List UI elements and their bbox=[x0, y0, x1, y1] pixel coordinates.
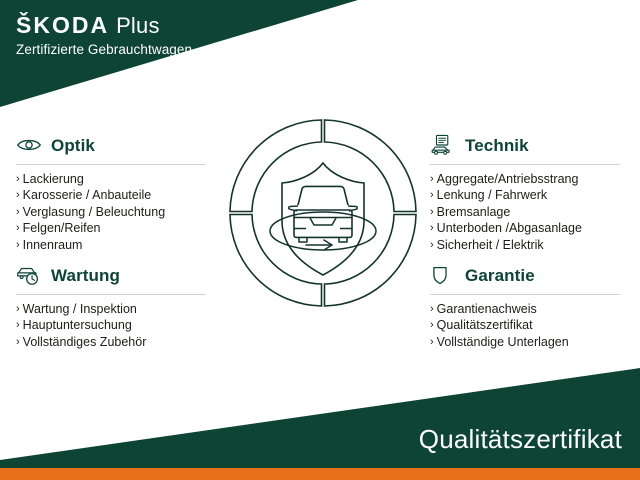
section-technik-header: Technik bbox=[430, 131, 630, 159]
list-item-label: Hauptuntersuchung bbox=[23, 317, 132, 333]
footer-title: Qualitätszertifikat bbox=[419, 426, 622, 452]
chevron-icon: › bbox=[430, 220, 434, 236]
skoda-plus-logo: ŠKODA Plus Zertifizierte Gebrauchtwagen bbox=[16, 14, 192, 57]
chevron-icon: › bbox=[430, 334, 434, 350]
skoda-wordmark: ŠKODA bbox=[16, 14, 109, 37]
chevron-icon: › bbox=[16, 220, 20, 236]
list-item-label: Felgen/Reifen bbox=[23, 220, 101, 236]
chevron-icon: › bbox=[16, 187, 20, 203]
chevron-icon: › bbox=[430, 187, 434, 203]
list-item-label: Karosserie / Anbauteile bbox=[23, 187, 152, 203]
section-optik-list: ›Lackierung ›Karosserie / Anbauteile ›Ve… bbox=[16, 171, 216, 253]
list-item: ›Unterboden /Abgasanlage bbox=[430, 220, 630, 236]
list-item-label: Aggregate/Antriebsstrang bbox=[437, 171, 579, 187]
section-technik-rule bbox=[430, 164, 620, 165]
section-technik-list: ›Aggregate/Antriebsstrang ›Lenkung / Fah… bbox=[430, 171, 630, 253]
section-garantie: Garantie ›Garantienachweis ›Qualitätszer… bbox=[430, 261, 630, 350]
chevron-icon: › bbox=[16, 204, 20, 220]
ring-segment-bottom-left bbox=[230, 215, 322, 307]
chevron-icon: › bbox=[430, 171, 434, 187]
certificate-infographic: ŠKODA Plus Zertifizierte Gebrauchtwagen … bbox=[0, 0, 640, 480]
chevron-icon: › bbox=[16, 237, 20, 253]
list-item-label: Unterboden /Abgasanlage bbox=[437, 220, 582, 236]
section-optik-rule bbox=[16, 164, 206, 165]
list-item: ›Qualitätszertifikat bbox=[430, 317, 630, 333]
list-item: ›Verglasung / Beleuchtung bbox=[16, 204, 216, 220]
section-garantie-header: Garantie bbox=[430, 261, 630, 289]
chevron-icon: › bbox=[430, 317, 434, 333]
footer-orange-strip bbox=[0, 468, 640, 480]
list-item-label: Verglasung / Beleuchtung bbox=[23, 204, 165, 220]
section-optik-header: Optik bbox=[16, 131, 216, 159]
shield-icon bbox=[430, 263, 456, 287]
chevron-icon: › bbox=[16, 334, 20, 350]
list-item: ›Aggregate/Antriebsstrang bbox=[430, 171, 630, 187]
list-item: ›Vollständiges Zubehör bbox=[16, 334, 216, 350]
list-item: ›Hauptuntersuchung bbox=[16, 317, 216, 333]
list-item-label: Bremsanlage bbox=[437, 204, 511, 220]
list-item: ›Felgen/Reifen bbox=[16, 220, 216, 236]
list-item: ›Sicherheit / Elektrik bbox=[430, 237, 630, 253]
section-garantie-rule bbox=[430, 294, 620, 295]
section-wartung-title: Wartung bbox=[51, 267, 120, 284]
ring-segment-top-left bbox=[230, 120, 322, 212]
ring-segment-bottom-right bbox=[325, 215, 417, 307]
section-optik: Optik ›Lackierung ›Karosserie / Anbautei… bbox=[16, 131, 216, 253]
list-item: ›Karosserie / Anbauteile bbox=[16, 187, 216, 203]
logo-tagline: Zertifizierte Gebrauchtwagen bbox=[16, 42, 192, 57]
chevron-icon: › bbox=[430, 301, 434, 317]
list-item: ›Garantienachweis bbox=[430, 301, 630, 317]
list-item: ›Innenraum bbox=[16, 237, 216, 253]
plus-wordmark: Plus bbox=[116, 15, 160, 37]
list-item: ›Wartung / Inspektion bbox=[16, 301, 216, 317]
section-wartung-rule bbox=[16, 294, 206, 295]
certified-vehicle-shield-emblem bbox=[228, 118, 418, 308]
ring-segment-top-right bbox=[325, 120, 417, 212]
list-item-label: Vollständige Unterlagen bbox=[437, 334, 569, 350]
chevron-icon: › bbox=[16, 317, 20, 333]
list-item-label: Innenraum bbox=[23, 237, 83, 253]
car-checklist-icon bbox=[430, 133, 456, 157]
chevron-icon: › bbox=[430, 237, 434, 253]
chevron-icon: › bbox=[430, 204, 434, 220]
section-wartung-header: Wartung bbox=[16, 261, 216, 289]
section-technik-title: Technik bbox=[465, 137, 529, 154]
section-wartung: Wartung ›Wartung / Inspektion ›Hauptunte… bbox=[16, 261, 216, 350]
section-wartung-list: ›Wartung / Inspektion ›Hauptuntersuchung… bbox=[16, 301, 216, 350]
section-technik: Technik ›Aggregate/Antriebsstrang ›Lenku… bbox=[430, 131, 630, 253]
list-item-label: Garantienachweis bbox=[437, 301, 537, 317]
list-item-label: Vollständiges Zubehör bbox=[23, 334, 147, 350]
section-garantie-list: ›Garantienachweis ›Qualitätszertifikat ›… bbox=[430, 301, 630, 350]
section-optik-title: Optik bbox=[51, 137, 95, 154]
list-item-label: Qualitätszertifikat bbox=[437, 317, 533, 333]
logo-wordmark-row: ŠKODA Plus bbox=[16, 14, 192, 37]
list-item: ›Lackierung bbox=[16, 171, 216, 187]
list-item-label: Lackierung bbox=[23, 171, 84, 187]
list-item-label: Sicherheit / Elektrik bbox=[437, 237, 544, 253]
chevron-icon: › bbox=[16, 301, 20, 317]
chevron-icon: › bbox=[16, 171, 20, 187]
list-item-label: Wartung / Inspektion bbox=[23, 301, 137, 317]
list-item-label: Lenkung / Fahrwerk bbox=[437, 187, 547, 203]
car-service-clock-icon bbox=[16, 263, 42, 287]
list-item: ›Lenkung / Fahrwerk bbox=[430, 187, 630, 203]
eye-icon bbox=[16, 133, 42, 157]
list-item: ›Bremsanlage bbox=[430, 204, 630, 220]
section-garantie-title: Garantie bbox=[465, 267, 535, 284]
list-item: ›Vollständige Unterlagen bbox=[430, 334, 630, 350]
